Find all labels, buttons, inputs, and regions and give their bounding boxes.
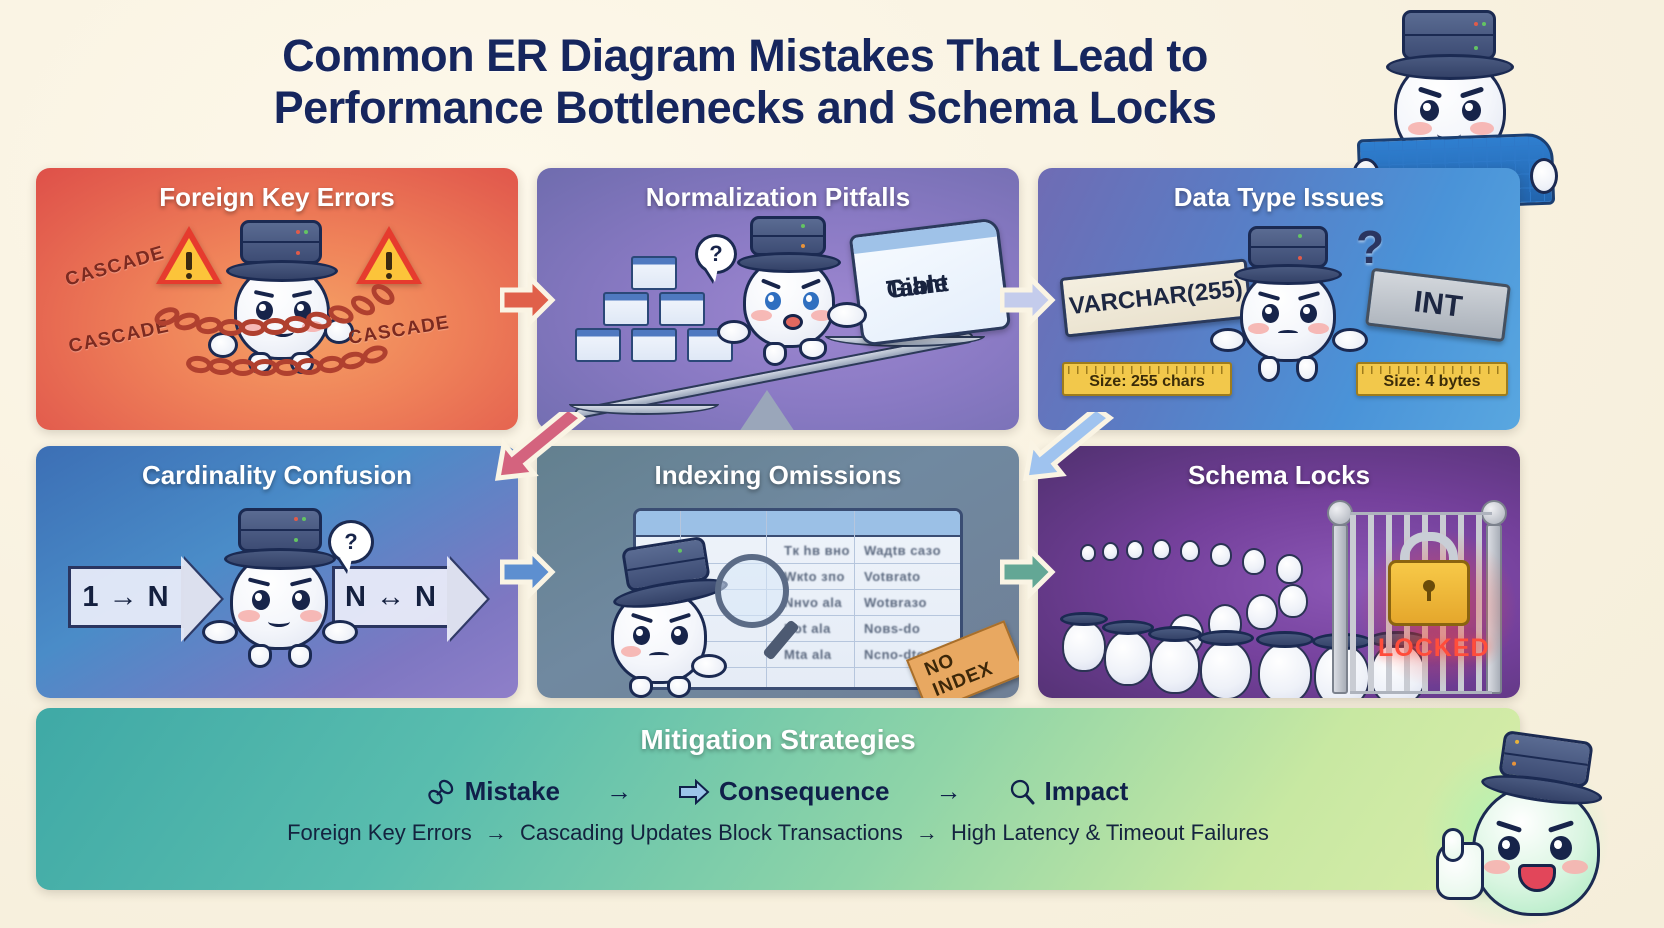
thought-text: ? <box>344 529 357 555</box>
giant-table-note: Giant Table <box>849 217 1012 346</box>
padlock-keyhole-icon <box>1423 580 1435 592</box>
chain-icon <box>186 340 446 390</box>
block-arrow-icon <box>678 779 710 805</box>
mitigation-flow-row: Foreign Key Errors → Cascading Updates B… <box>36 820 1520 846</box>
arrow-p2-to-p3 <box>1000 268 1056 338</box>
legend-label: Consequence <box>719 776 890 807</box>
ruler-size-left: Size: 255 chars <box>1062 362 1232 396</box>
title-line-1: Common ER Diagram Mistakes That Lead to <box>180 30 1310 82</box>
database-hat-icon <box>1386 10 1514 72</box>
flow-consequence: Cascading Updates Block Transactions <box>520 820 903 845</box>
open-mouth-icon <box>783 314 803 330</box>
legend-impact: Impact <box>1008 776 1129 807</box>
database-hat-icon <box>224 508 336 564</box>
mascot-balancing <box>719 216 869 400</box>
page-title: Common ER Diagram Mistakes That Lead to … <box>180 30 1310 134</box>
warning-triangle-icon <box>356 226 422 284</box>
ruler-size-right: Size: 4 bytes <box>1356 362 1508 396</box>
arrow-p4-to-p5 <box>500 540 556 610</box>
ruler-label: Size: 4 bytes <box>1384 373 1481 391</box>
flow-arrow: → <box>478 820 514 845</box>
panel-foreign-key-errors[interactable]: Foreign Key Errors <box>36 168 518 430</box>
locked-status-badge: LOCKED <box>1378 634 1490 663</box>
panel-title: Indexing Omissions <box>537 460 1019 491</box>
cardinality-arrow-one-to-many: 1 → N <box>68 566 184 628</box>
section-title: Mitigation Strategies <box>36 724 1520 756</box>
legend-consequence: Consequence <box>678 776 890 807</box>
title-line-2: Performance Bottlenecks and Schema Locks <box>180 82 1310 134</box>
legend-separator: → <box>606 776 632 807</box>
panel-cardinality-confusion[interactable]: Cardinality Confusion 1 → N N ↔ N <box>36 446 518 698</box>
int-sign: INT <box>1365 268 1511 343</box>
ruler-label: Size: 255 chars <box>1089 373 1205 391</box>
legend-row: Mistake → Consequence → Impact <box>36 776 1520 807</box>
panel-title: Foreign Key Errors <box>36 182 518 213</box>
arrow-p2-to-p4 <box>482 412 592 490</box>
mascot-pointing <box>208 508 358 694</box>
arrow-p5-to-p6 <box>1000 540 1056 610</box>
legend-separator: → <box>936 776 962 807</box>
thought-text: ? <box>709 241 722 267</box>
magnifier-icon <box>715 554 789 628</box>
database-hat-icon <box>1480 728 1609 804</box>
legend-label: Mistake <box>465 776 560 807</box>
arrow-p1-to-p2 <box>500 268 556 338</box>
thought-bubble-icon: ? <box>695 234 737 274</box>
database-hat-icon <box>605 533 729 608</box>
database-hat-icon <box>226 220 338 276</box>
mascot-thumbs-up <box>1400 736 1630 928</box>
flow-arrow: → <box>909 820 945 845</box>
cascade-label: CASCADE <box>63 242 167 291</box>
panel-title: Normalization Pitfalls <box>537 182 1019 213</box>
panel-title: Cardinality Confusion <box>36 460 518 491</box>
gate-post-icon <box>1332 524 1348 694</box>
flow-mistake: Foreign Key Errors <box>287 820 472 845</box>
panel-indexing-omissions[interactable]: Indexing Omissions Tк hв вно Wкto зпо Nн… <box>537 446 1019 698</box>
legend-label: Impact <box>1045 776 1129 807</box>
database-hat-icon <box>1234 226 1342 280</box>
panel-normalization-pitfalls[interactable]: Normalization Pitfalls Giant Table <box>537 168 1019 430</box>
panel-data-type-issues[interactable]: Data Type Issues VARCHAR(255) INT Size: … <box>1038 168 1520 430</box>
legend-mistake: Mistake <box>428 776 560 807</box>
database-hat-icon <box>737 216 841 268</box>
flow-impact: High Latency & Timeout Failures <box>951 820 1269 845</box>
chain-link-icon <box>428 778 456 806</box>
note-line-2: Table <box>885 271 949 303</box>
panel-title: Data Type Issues <box>1038 182 1520 213</box>
infographic-root: Common ER Diagram Mistakes That Lead to … <box>0 0 1664 928</box>
mitigation-strategies-section[interactable]: Mitigation Strategies Mistake → Conseque… <box>36 708 1520 890</box>
arrow-p3-to-p5 <box>1010 412 1120 490</box>
magnifier-icon <box>1008 778 1036 806</box>
mascot-confused <box>1216 226 1366 416</box>
